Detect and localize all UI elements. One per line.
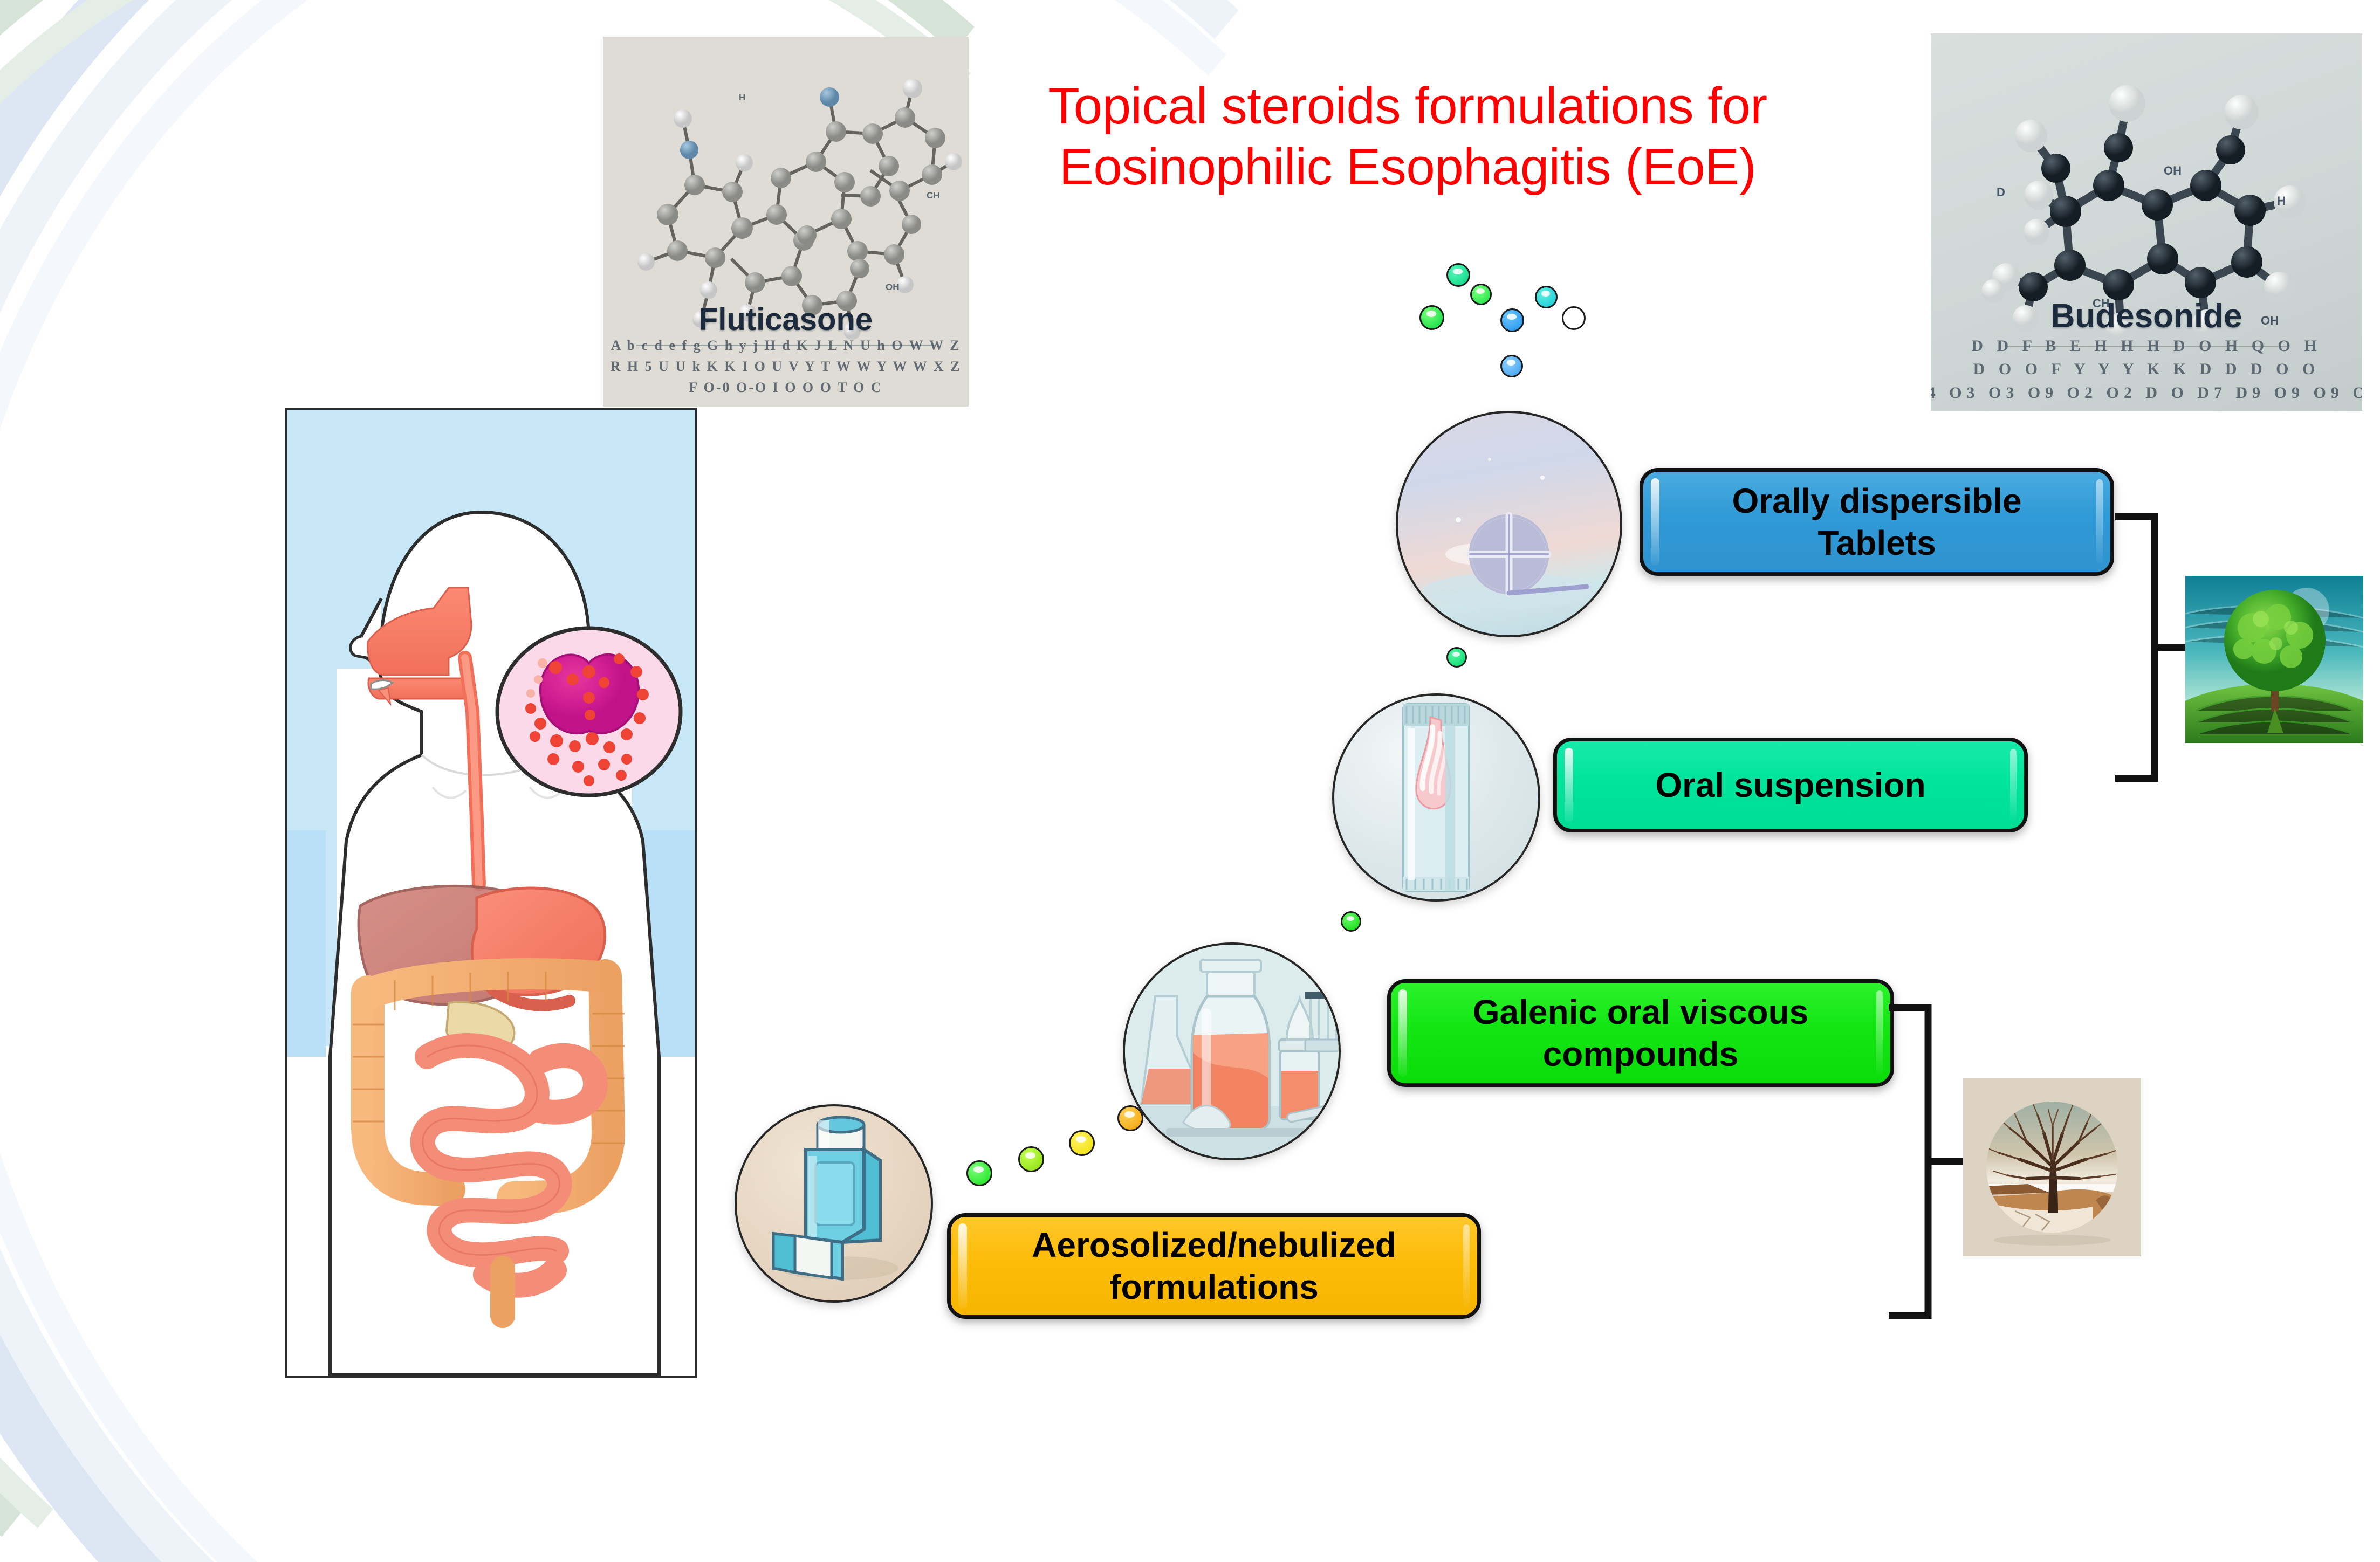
formulation-label-line-1: Aerosolized/nebulized [1032,1226,1396,1264]
formulation-label-text: Orally dispersible Tablets [1732,480,2021,564]
bead-link-sachet-lab [1341,911,1361,932]
sachet-tube-icon[interactable] [1332,693,1540,902]
svg-text:CH: CH [927,190,940,201]
bead-link-tablet-sachet [1446,647,1467,668]
svg-text:OH: OH [2164,164,2182,177]
page-title-line-2: Eosinophilic Esophagitis (EoE) [965,136,1850,197]
formulation-label-line-2: Tablets [1817,524,1936,562]
brace-arm-top [2115,513,2157,520]
bead-plume-7 [1500,355,1523,377]
dead-tree-icon-glyph [1963,1078,2141,1256]
inhaler-icon-glyph [737,1106,931,1300]
brace-arm-bottom [1889,1312,1931,1319]
svg-text:H: H [2277,194,2286,208]
formulation-label-galenic-oral-viscous-compounds[interactable]: Galenic oral viscous compounds [1387,979,1894,1087]
bead-plume-2 [1470,284,1492,305]
inhaler-icon[interactable] [735,1104,933,1303]
formulation-label-text: Aerosolized/nebulized formulations [1032,1224,1396,1308]
bead-chain-3 [1069,1130,1095,1156]
brace-favourable-group [2151,513,2158,782]
svg-text:OH: OH [886,282,900,292]
svg-text:H: H [739,92,745,102]
sachet-tube-icon-glyph [1334,696,1538,899]
brace-arm-top [1889,1004,1931,1011]
molecule-caption-fluticasone: A b c d e f g G h y j H d K J L N U h O … [611,335,962,398]
bead-chain-1 [966,1160,992,1186]
tablet-icon-glyph [1398,413,1620,635]
page-title: Topical steroids formulations for Eosino… [965,75,1850,198]
laboratory-glassware-icon-glyph [1125,945,1339,1158]
laboratory-glassware-icon[interactable] [1123,942,1341,1160]
formulation-label-text: Oral suspension [1655,764,1925,806]
bead-plume-3 [1419,305,1444,330]
page-title-line-1: Topical steroids formulations for [965,75,1850,136]
molecule-name-budesonide: Budesonide [1931,297,2362,335]
dead-tree-icon [1963,1078,2141,1256]
formulation-label-line-1: Orally dispersible [1732,481,2021,520]
formulation-label-oral-suspension[interactable]: Oral suspension [1553,738,2028,832]
bead-plume-6 [1500,308,1524,332]
molecule-caption-line-2: R H 5 U U k K K I O U V Y T W W Y W W X … [611,356,962,377]
bead-chain-2 [1018,1146,1044,1172]
bead-plume-5 [1562,306,1586,330]
formulation-label-line-2: compounds [1543,1035,1739,1074]
molecule-caption-budesonide: D D F B E H H H D O H Q O H D O O F Y Y … [1931,334,2362,405]
eosinophil-cell [497,628,681,795]
molecule-caption-line-3: F O-0 O-O I O O O T O C [611,377,962,398]
slide-canvas: Topical steroids formulations for Eosino… [0,0,2380,1562]
bead-chain-4 [1117,1105,1143,1131]
svg-text:D: D [1997,185,2005,199]
molecule-caption-line-1: A b c d e f g G h y j H d K J L N U h O … [611,335,962,356]
molecule-caption-line-2: D O O F Y Y Y K K D D D O O [1931,357,2362,381]
molecule-caption-line-3: O4 O3 O3 O9 O2 O2 D O D7 D9 O9 O9 O9 [1931,381,2362,405]
molecule-card-fluticasone: HCHOH Fluticasone A b c d e f g G h y j … [603,37,969,407]
green-tree-icon-glyph [2185,576,2363,743]
bead-plume-1 [1446,263,1470,287]
brace-arm-bottom [2115,775,2157,782]
green-tree-icon [2185,576,2363,743]
brace-unfavourable-group [1924,1004,1931,1319]
formulation-label-line-2: formulations [1109,1268,1319,1306]
molecule-name-fluticasone: Fluticasone [603,301,969,338]
gi-tract-diagram [287,410,697,1378]
formulation-label-line-1: Galenic oral viscous [1473,993,1809,1031]
formulation-label-aerosolized-nebulized-formulations[interactable]: Aerosolized/nebulized formulations [947,1213,1481,1319]
bead-plume-4 [1535,286,1558,308]
molecule-caption-line-1: D D F B E H H H D O H Q O H [1931,334,2362,358]
formulation-label-text: Galenic oral viscous compounds [1473,991,1809,1075]
tablet-icon[interactable] [1396,411,1622,637]
molecule-card-budesonide: OHCHOH HD Budesonide D D F B E H H H D O… [1931,33,2362,411]
anatomy-illustration-panel [285,408,697,1378]
formulation-label-orally-dispersible-tablets[interactable]: Orally dispersible Tablets [1640,468,2114,576]
